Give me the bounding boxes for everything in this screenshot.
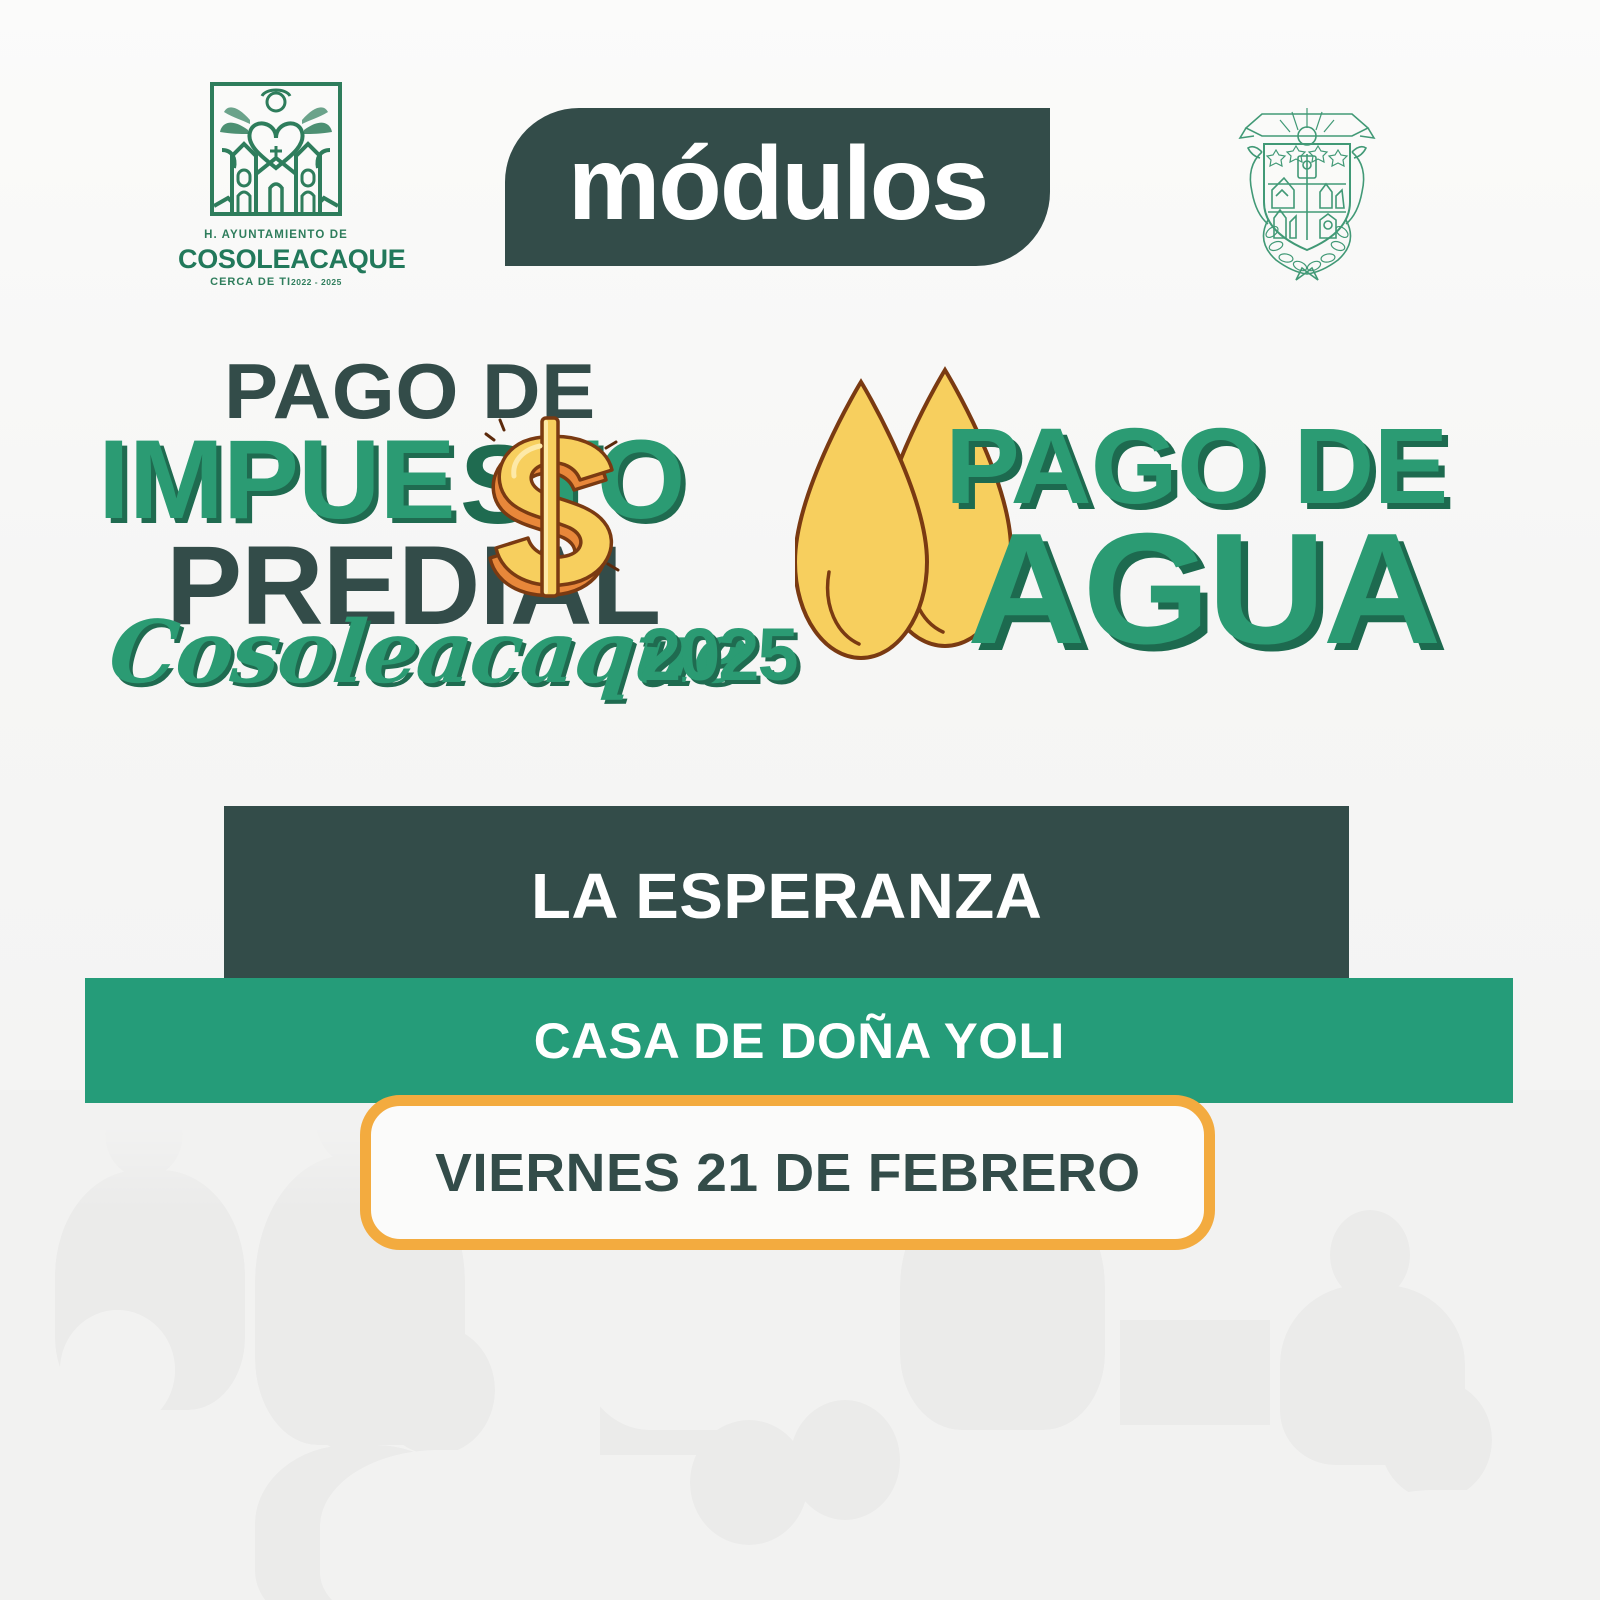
- logo-line-ayuntamiento: H. AYUNTAMIENTO DE: [178, 230, 374, 242]
- venue-name: CASA DE DOÑA YOLI: [533, 1012, 1064, 1070]
- modulos-badge-label: módulos: [568, 132, 987, 242]
- agua-line-agua: AGUA: [967, 510, 1438, 668]
- photo-person: [320, 1450, 590, 1600]
- poster-canvas: H. AYUNTAMIENTO DE COSOLEACAQUE CERCA DE…: [0, 0, 1600, 1600]
- photo-person: [10, 1420, 260, 1600]
- photo-person: [790, 1400, 900, 1520]
- photo-person: [60, 1310, 175, 1430]
- date-text: VIERNES 21 DE FEBRERO: [435, 1142, 1141, 1204]
- predial-lockup: PAGO DE IMPUESTO PREDIAL Cosoleacaque 20…: [88, 352, 788, 722]
- municipal-logo: H. AYUNTAMIENTO DE COSOLEACAQUE CERCA DE…: [178, 78, 374, 278]
- dollar-sign-coin-icon: [468, 404, 628, 609]
- state-coat-of-arms-icon: [1232, 92, 1382, 282]
- predial-year: 2025: [640, 618, 797, 692]
- modulos-badge: módulos: [505, 108, 1050, 266]
- photo-person: [690, 1420, 808, 1545]
- photo-monitor: [1120, 1320, 1270, 1425]
- location-name: LA ESPERANZA: [531, 859, 1042, 933]
- photo-person: [375, 1325, 495, 1455]
- venue-bar: CASA DE DOÑA YOLI: [85, 978, 1513, 1103]
- photo-person: [1330, 1490, 1570, 1600]
- agua-lockup: PAGO DE AGUA: [795, 360, 1540, 680]
- logo-line-slogan: CERCA DE TI2022 - 2025: [178, 277, 374, 288]
- cosoleacaque-municipal-crest-icon: [178, 78, 374, 226]
- location-bar: LA ESPERANZA: [224, 806, 1349, 986]
- photo-person: [1280, 1285, 1465, 1465]
- date-card: VIERNES 21 DE FEBRERO: [360, 1095, 1215, 1250]
- logo-slogan-text: CERCA DE TI: [210, 276, 291, 288]
- logo-line-municipality: COSOLEACAQUE: [178, 246, 374, 273]
- logo-years: 2022 - 2025: [291, 277, 342, 287]
